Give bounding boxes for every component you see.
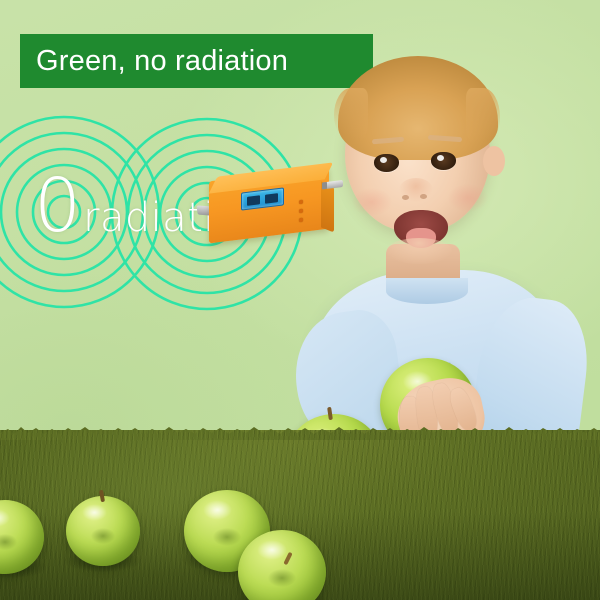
- zero-digit: 0: [34, 176, 81, 237]
- baby-chin: [386, 238, 452, 264]
- baby-hair-wisp: [466, 88, 500, 146]
- apple-highlight: [82, 504, 107, 521]
- onesie-collar: [386, 278, 468, 304]
- apple-dimple: [0, 534, 17, 550]
- apple-highlight: [0, 509, 10, 527]
- baby-eye: [431, 152, 456, 170]
- lcd-segment: [265, 193, 278, 204]
- apple-dimple: [268, 569, 296, 587]
- lcd-segment: [247, 195, 260, 206]
- apple-highlight: [257, 540, 287, 560]
- baby-cheek: [448, 184, 488, 212]
- signal-waves-icon-left: [0, 112, 164, 312]
- baby-ear: [483, 146, 505, 176]
- baby-nostril: [420, 194, 427, 199]
- baby-cheek: [352, 188, 392, 216]
- apple-highlight: [203, 500, 232, 520]
- apple-dimple: [213, 528, 241, 546]
- baby-hair-wisp: [334, 88, 368, 142]
- apple-dimple: [91, 528, 115, 543]
- baby-eye: [374, 154, 399, 172]
- headline-text: Green, no radiation: [36, 47, 288, 76]
- promo-banner-image: Green, no radiation: [0, 0, 600, 600]
- baby-nostril: [402, 195, 409, 200]
- apple-icon-ground-2: [66, 496, 140, 566]
